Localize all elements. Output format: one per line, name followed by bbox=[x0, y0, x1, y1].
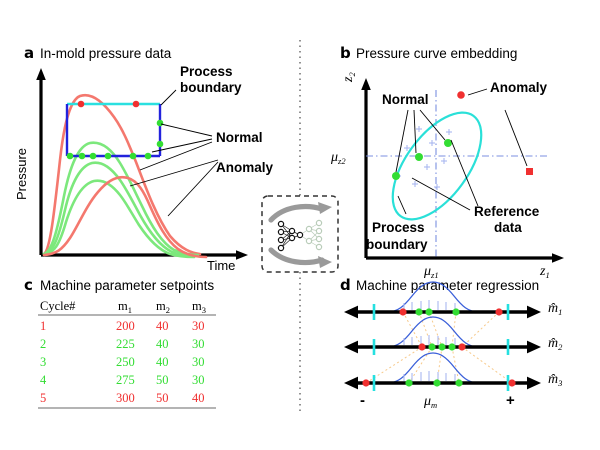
panel-b-letter: b bbox=[340, 44, 351, 62]
marker-normal bbox=[90, 153, 97, 160]
table-row: 1 200 40 30 bbox=[40, 319, 205, 333]
panel-b-annot-reference2: data bbox=[494, 220, 522, 235]
point-anomaly bbox=[399, 308, 406, 315]
panel-d-axis-right-label: + bbox=[506, 392, 515, 409]
panel-c-title: Machine parameter setpoints bbox=[40, 278, 214, 293]
panel-b: b Pressure curve embedding z2 z1 μz2 μz1 bbox=[330, 44, 564, 280]
point-anomaly bbox=[457, 91, 465, 99]
point-normal bbox=[455, 379, 462, 386]
cell-m1: 300 bbox=[116, 391, 135, 405]
panel-d-letter: d bbox=[340, 276, 351, 294]
cell-m2: 40 bbox=[156, 337, 169, 351]
panel-a-annot-normal: Normal bbox=[216, 130, 263, 145]
panel-b-annot-process: Process bbox=[372, 220, 425, 235]
curve-cycle-4-normal bbox=[44, 181, 194, 257]
table-header-row: Cycle# m1 m2 m3 bbox=[40, 299, 206, 315]
point-normal bbox=[452, 308, 459, 315]
panel-a-title: In-mold pressure data bbox=[40, 46, 172, 61]
panel-d-axis-left-label: - bbox=[360, 392, 365, 409]
panel-b-leader-lines bbox=[396, 89, 527, 214]
cell-m3: 30 bbox=[192, 373, 205, 387]
panel-b-y-label: z2 bbox=[341, 72, 357, 83]
panel-a-annot-boundary: boundary bbox=[180, 80, 242, 95]
panel-c: c Machine parameter setpoints Cycle# m1 … bbox=[24, 276, 216, 408]
marker-normal bbox=[67, 153, 74, 160]
figure-root: a In-mold pressure data Pressure Time bbox=[0, 0, 600, 450]
panel-a-y-axis bbox=[36, 68, 46, 255]
panel-a-annot-anomaly: Anomaly bbox=[216, 160, 274, 175]
point-normal bbox=[405, 379, 412, 386]
cell-m2: 50 bbox=[156, 373, 169, 387]
cell-m1: 250 bbox=[116, 355, 135, 369]
panel-d: d Machine parameter regression bbox=[340, 276, 563, 410]
panel-d-row-label-m2: m̂2 bbox=[548, 336, 563, 352]
pressure-curves bbox=[44, 95, 206, 257]
point-anomaly bbox=[418, 343, 425, 350]
point-normal bbox=[428, 343, 435, 350]
table-row: 3 250 40 30 bbox=[40, 355, 205, 369]
point-normal bbox=[448, 343, 455, 350]
cell-m3: 30 bbox=[192, 355, 205, 369]
panel-b-x-label: z1 bbox=[539, 264, 550, 280]
panel-d-title: Machine parameter regression bbox=[356, 278, 539, 293]
panel-b-annot-normal: Normal bbox=[382, 92, 429, 107]
point-anomaly bbox=[362, 379, 369, 386]
point-anomaly bbox=[526, 168, 533, 175]
cell-m1: 275 bbox=[116, 373, 135, 387]
table-col-m3: m3 bbox=[192, 299, 206, 315]
panel-b-annot-boundary: boundary bbox=[366, 237, 428, 252]
panel-d-center-label: μm bbox=[423, 394, 437, 410]
marker-anomaly bbox=[133, 101, 140, 108]
point-anomaly bbox=[458, 343, 465, 350]
panel-a: a In-mold pressure data Pressure Time bbox=[14, 44, 274, 273]
cell-cycle: 1 bbox=[40, 319, 46, 333]
reference-ticks bbox=[404, 371, 455, 381]
point-normal bbox=[433, 379, 440, 386]
panel-b-y-axis bbox=[361, 78, 371, 258]
point-normal bbox=[425, 308, 432, 315]
point-normal bbox=[415, 308, 422, 315]
table-col-m2: m2 bbox=[156, 299, 170, 315]
panel-d-row-label-m3: m̂3 bbox=[548, 372, 562, 388]
panel-a-leader-lines bbox=[130, 90, 218, 216]
cell-cycle: 5 bbox=[40, 391, 46, 405]
panel-a-letter: a bbox=[24, 44, 34, 62]
marker-anomaly bbox=[78, 101, 85, 108]
panel-b-x-axis bbox=[366, 253, 564, 263]
table-row: 5 300 50 40 bbox=[40, 391, 205, 405]
panel-a-annot-process: Process bbox=[180, 64, 233, 79]
autoencoder-box bbox=[262, 196, 338, 272]
point-anomaly bbox=[495, 308, 502, 315]
marker-normal bbox=[105, 153, 112, 160]
cell-m1: 225 bbox=[116, 337, 135, 351]
cell-m3: 30 bbox=[192, 337, 205, 351]
panel-a-y-label: Pressure bbox=[14, 148, 29, 200]
table-col-cycle: Cycle# bbox=[40, 299, 76, 313]
marker-normal bbox=[130, 153, 137, 160]
reference-data-markers bbox=[395, 126, 452, 190]
panel-b-mean-z2-label: μz2 bbox=[330, 150, 346, 166]
panel-a-x-label: Time bbox=[207, 258, 235, 273]
cell-cycle: 3 bbox=[40, 355, 46, 369]
marker-normal bbox=[157, 120, 164, 127]
panel-b-annot-anomaly: Anomaly bbox=[490, 80, 548, 95]
panel-d-row-label-m1: m̂1 bbox=[548, 301, 562, 317]
cell-m1: 200 bbox=[116, 319, 135, 333]
boundary-markers-normal bbox=[67, 120, 164, 160]
panel-c-letter: c bbox=[24, 276, 33, 294]
cell-m2: 50 bbox=[156, 391, 169, 405]
cell-cycle: 2 bbox=[40, 337, 46, 351]
reference-ticks bbox=[404, 335, 455, 345]
marker-normal bbox=[157, 141, 164, 148]
point-normal bbox=[415, 153, 423, 161]
cell-m2: 40 bbox=[156, 319, 169, 333]
panel-b-title: Pressure curve embedding bbox=[356, 46, 517, 61]
point-anomaly bbox=[508, 379, 515, 386]
marker-normal bbox=[145, 153, 152, 160]
embedding-anomaly-points bbox=[457, 91, 533, 175]
point-normal bbox=[392, 172, 400, 180]
table-col-m1: m1 bbox=[118, 299, 132, 315]
cell-cycle: 4 bbox=[40, 373, 47, 387]
cell-m2: 40 bbox=[156, 355, 169, 369]
gaussian-curve bbox=[387, 353, 479, 383]
marker-normal bbox=[79, 153, 86, 160]
table-row: 2 225 40 30 bbox=[40, 337, 205, 351]
cell-m3: 30 bbox=[192, 319, 205, 333]
table-row: 4 275 50 30 bbox=[40, 373, 205, 387]
regression-row-m3: m̂3 bbox=[344, 353, 562, 391]
cell-m3: 40 bbox=[192, 391, 205, 405]
panel-b-annot-reference: Reference bbox=[474, 204, 540, 219]
point-normal bbox=[438, 343, 445, 350]
